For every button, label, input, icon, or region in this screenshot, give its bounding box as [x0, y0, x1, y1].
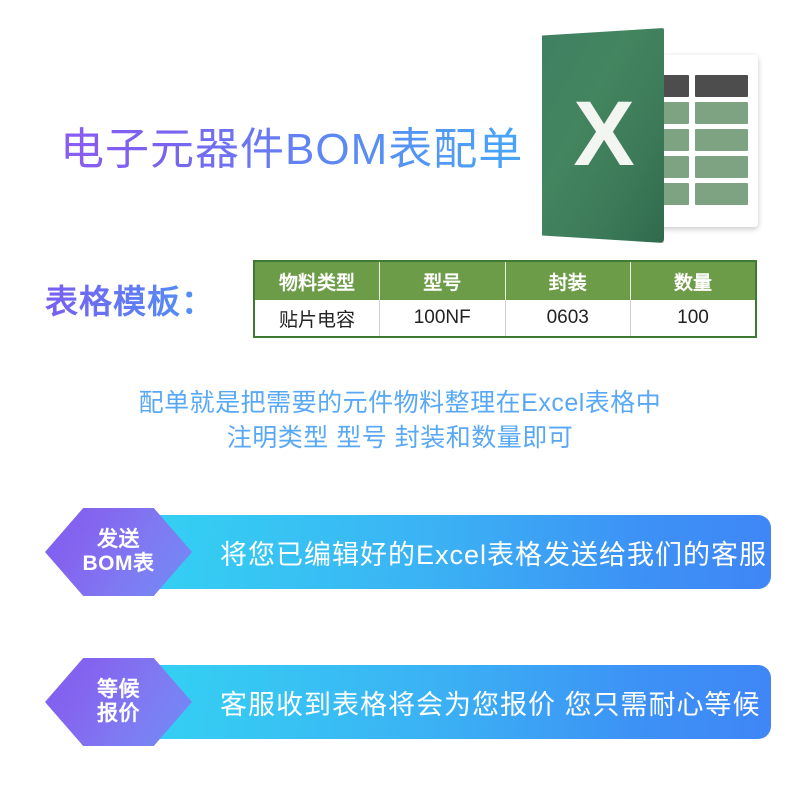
- cell-material-type: 贴片电容: [254, 300, 380, 337]
- grid-cell: [695, 75, 748, 97]
- grid-cell: [695, 183, 748, 205]
- table-template-label: 表格模板：: [45, 275, 215, 323]
- step-2-text: 客服收到表格将会为您报价 您只需耐心等候: [220, 683, 761, 722]
- column-header-package: 封装: [505, 261, 631, 300]
- cell-package: 0603: [505, 300, 631, 337]
- description-line-2: 注明类型 型号 封装和数量即可: [0, 418, 800, 454]
- cell-quantity: 100: [631, 300, 757, 337]
- column-header-material-type: 物料类型: [254, 261, 380, 300]
- page-title: 电子元器件BOM表配单: [60, 113, 523, 177]
- table-header-row: 物料类型 型号 封装 数量: [254, 261, 756, 300]
- step-send-bom: 将您已编辑好的Excel表格发送给我们的客服 发送 BOM表: [45, 508, 771, 596]
- column-header-quantity: 数量: [631, 261, 757, 300]
- grid-cell: [695, 102, 748, 124]
- step-2-badge-line-1: 等候: [97, 678, 140, 702]
- step-1-bar: 将您已编辑好的Excel表格发送给我们的客服: [108, 515, 771, 589]
- cell-model: 100NF: [380, 300, 506, 337]
- excel-x-letter: X: [542, 28, 664, 243]
- column-header-model: 型号: [380, 261, 506, 300]
- table-row: 贴片电容 100NF 0603 100: [254, 300, 756, 337]
- bom-template-table: 物料类型 型号 封装 数量 贴片电容 100NF 0603 100: [253, 260, 757, 338]
- step-wait-quote: 客服收到表格将会为您报价 您只需耐心等候 等候 报价: [45, 658, 771, 746]
- description-line-1: 配单就是把需要的元件物料整理在Excel表格中: [0, 383, 800, 419]
- step-1-badge-line-2: BOM表: [83, 552, 155, 576]
- step-1-text: 将您已编辑好的Excel表格发送给我们的客服: [220, 533, 767, 572]
- step-2-badge-line-2: 报价: [97, 702, 140, 726]
- grid-cell: [695, 129, 748, 151]
- poster-canvas: X 电子元器件BOM表配单 表格模板： 物料类型 型号 封装 数量 贴片电容 1…: [0, 0, 800, 800]
- excel-logo-icon: X: [528, 18, 778, 253]
- excel-green-panel: X: [542, 28, 664, 243]
- step-1-badge-line-1: 发送: [97, 528, 140, 552]
- grid-cell: [695, 156, 748, 178]
- step-2-bar: 客服收到表格将会为您报价 您只需耐心等候: [108, 665, 771, 739]
